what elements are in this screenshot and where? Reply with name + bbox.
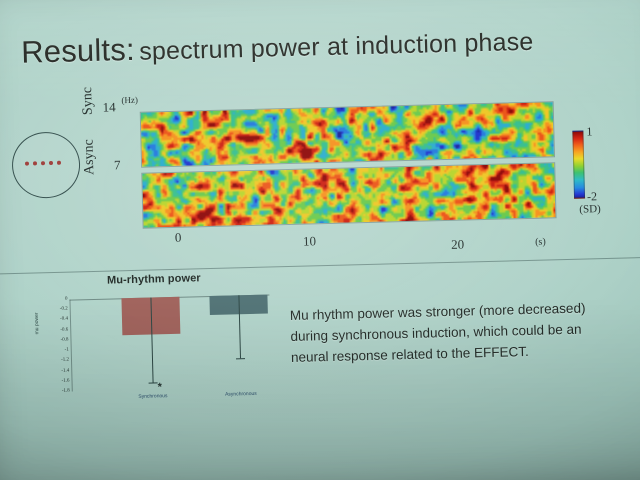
section-divider (0, 257, 640, 274)
chart-category-label: Synchronous (138, 393, 167, 400)
chart-y-tick-labels: 0-0.2-0.4-0.6-0.8-1-1.2-1.4-1.6-1.8 (41, 295, 70, 396)
spectrogram-panels (140, 101, 555, 226)
spectrogram-async (141, 162, 556, 228)
chart-y-tick: -1 (65, 348, 69, 353)
chart-y-tick: -0.2 (60, 307, 68, 312)
page-title: Results: spectrum power at induction pha… (21, 22, 534, 71)
chart-y-tick: -0.4 (60, 317, 68, 322)
spectrogram-sync (140, 101, 555, 167)
title-main: Results: (21, 32, 135, 70)
chart-y-tick: -0.6 (60, 327, 68, 332)
chart-y-tick: -1.6 (62, 378, 70, 383)
electrode-dot (41, 161, 45, 165)
colorbar-unit-label: (SD) (579, 203, 601, 216)
electrode-dot (57, 161, 61, 165)
chart-y-axis (69, 300, 72, 392)
y-axis-top-tick: 14 (102, 99, 115, 115)
x-axis-unit: (s) (535, 237, 546, 248)
row-label-sync: Sync (80, 87, 97, 115)
projected-slide-photo: Results: spectrum power at induction pha… (0, 0, 640, 480)
eeg-head-icon (11, 131, 81, 199)
chart-bar: Synchronous (121, 297, 179, 298)
y-axis-unit: (Hz) (121, 95, 138, 105)
slide-content: Results: spectrum power at induction pha… (0, 0, 640, 480)
chart-y-tick: -1.2 (61, 358, 69, 363)
y-axis-mid-tick: 7 (114, 157, 121, 173)
chart-error-cap (148, 383, 157, 384)
electrode-dot (25, 162, 29, 166)
electrode-dot (33, 161, 37, 165)
x-axis-tick-0: 0 (175, 230, 182, 246)
row-label-async: Async (81, 139, 98, 175)
chart-bar: Asynchronous (209, 295, 267, 296)
body-paragraph: Mu rhythm power was stronger (more decre… (290, 298, 621, 369)
chart-title: Mu-rhythm power (107, 272, 201, 286)
title-sub: spectrum power at induction phase (139, 28, 534, 66)
colorbar-min-label: -2 (587, 189, 597, 204)
colorbar-max-label: 1 (586, 124, 592, 139)
significance-marker: * (158, 381, 163, 393)
chart-y-tick: -0.8 (61, 337, 69, 342)
mu-rhythm-bar-chart: Mu-rhythm power 0-0.2-0.4-0.6-0.8-1-1.2-… (31, 270, 284, 411)
chart-category-label: Asynchronous (225, 391, 257, 398)
chart-plot-area: 0-0.2-0.4-0.6-0.8-1-1.2-1.4-1.6-1.8 mu p… (69, 295, 271, 392)
chart-y-tick: -1.4 (61, 368, 69, 373)
chart-y-axis-label: mu power (34, 312, 41, 334)
x-axis-tick-20: 20 (451, 237, 464, 253)
colorbar (572, 131, 585, 199)
chart-y-tick: -1.8 (62, 389, 70, 394)
chart-y-tick: 0 (65, 297, 68, 302)
electrode-dot (49, 161, 53, 165)
chart-error-cap (236, 358, 245, 359)
x-axis-tick-10: 10 (303, 233, 316, 249)
